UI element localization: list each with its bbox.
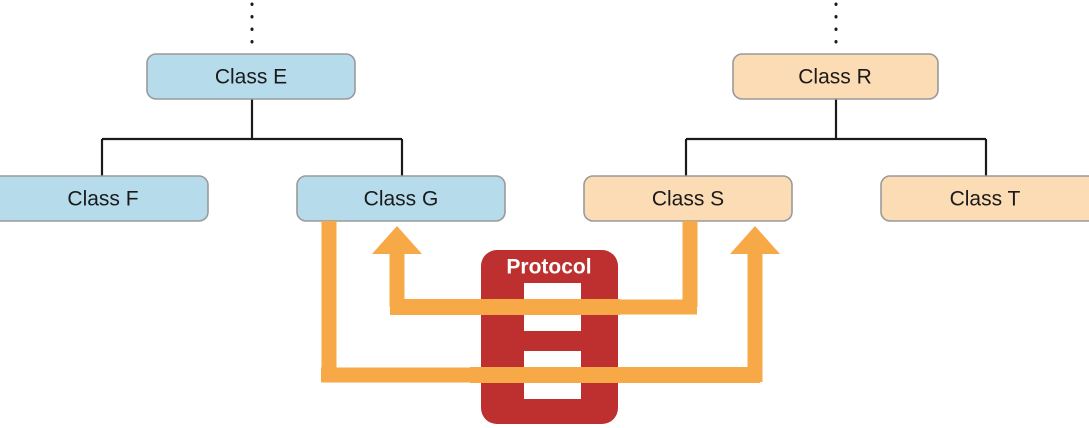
- node-class-f[interactable]: Class F: [0, 176, 208, 221]
- class-s-label: Class S: [652, 188, 724, 211]
- class-g-label: Class G: [364, 188, 439, 211]
- protocol-slot-lower-bottom: [524, 383, 581, 399]
- conformance-bar-lower-through-slot: [470, 367, 760, 383]
- node-class-r[interactable]: Class R: [733, 54, 938, 99]
- protocol-block[interactable]: Protocol: [481, 250, 618, 424]
- protocol-slot-lower-top: [524, 351, 581, 367]
- class-r-label: Class R: [798, 66, 872, 89]
- node-class-e[interactable]: Class E: [147, 54, 355, 99]
- class-t-label: Class T: [950, 188, 1021, 211]
- class-e-label: Class E: [215, 66, 287, 89]
- conformance-arrowhead-class-g: [372, 226, 422, 254]
- right-hierarchy: Class R Class S Class T: [584, 4, 1089, 221]
- conformance-arrowhead-class-s: [730, 226, 780, 254]
- protocol-conformance-diagram: Class E Class F Class G Class: [0, 0, 1089, 428]
- class-f-label: Class F: [67, 188, 138, 211]
- protocol-slot-upper-bottom: [524, 315, 581, 331]
- node-class-t[interactable]: Class T: [881, 176, 1089, 221]
- diagram-canvas: Class E Class F Class G Class: [0, 0, 1089, 428]
- left-hierarchy: Class E Class F Class G: [0, 4, 505, 221]
- conformance-bar-upper-through-slot: [390, 299, 620, 315]
- protocol-label: Protocol: [506, 256, 591, 279]
- node-class-s[interactable]: Class S: [584, 176, 792, 221]
- node-class-g[interactable]: Class G: [297, 176, 505, 221]
- protocol-slot-upper-top: [524, 283, 581, 299]
